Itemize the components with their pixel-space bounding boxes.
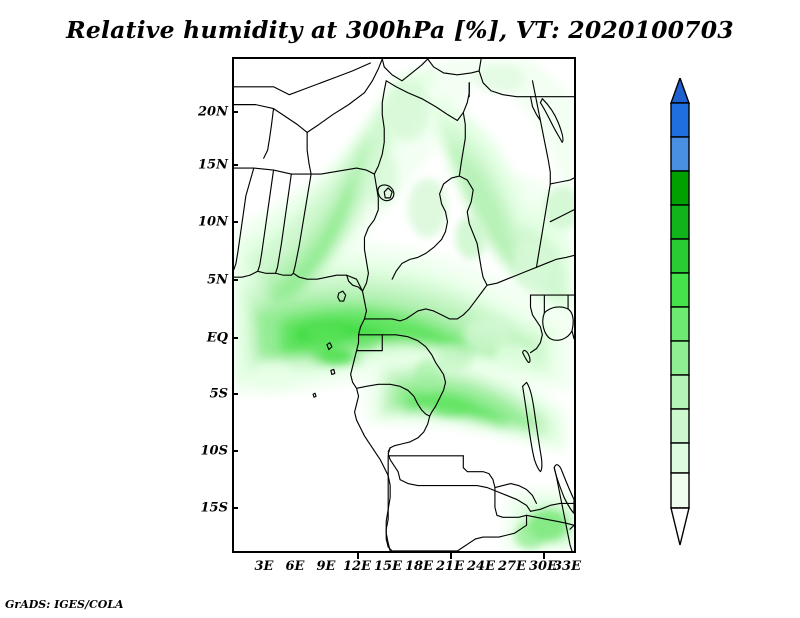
x-axis-tick-label: 27E [498,559,526,574]
x-axis-tick-label: 12E [343,559,371,574]
y-axis-tick-label: 5N [192,273,228,288]
x-axis-tick [450,553,452,559]
x-axis-tick-label: 6E [286,559,305,574]
y-axis-tick-label: 20N [192,105,228,120]
x-axis-tick-label: 15E [374,559,402,574]
x-axis-tick-label: 21E [436,559,464,574]
y-axis-tick [232,393,238,395]
y-axis-tick [232,450,238,452]
x-axis-tick [543,553,545,559]
y-axis-tick-label: 10N [192,215,228,230]
chart-root: Relative humidity at 300hPa [%], VT: 202… [0,0,800,618]
colorbar-arrow-bottom [671,508,689,545]
y-axis-tick-label: 5S [192,387,228,402]
y-axis-tick-label: EQ [192,331,228,346]
x-axis-tick-label: 9E [317,559,336,574]
credit-text: GrADS: IGES/COLA [5,598,124,611]
colorbar-swatches [670,78,690,546]
y-axis-tick-label: 15N [192,158,228,173]
y-axis-tick [232,164,238,166]
map-plot-area [232,57,576,553]
page-title: Relative humidity at 300hPa [%], VT: 202… [0,16,800,44]
y-axis-tick [232,507,238,509]
colorbar-arrow-top [671,78,689,103]
x-axis-tick-label: 24E [467,559,495,574]
colorbar: 99 97 95 92 90 85 80 75 70 60 50 40 [670,78,690,546]
y-axis-tick-label: 15S [192,501,228,516]
x-axis-tick-label: 3E [255,559,274,574]
y-axis-tick [232,337,238,339]
x-axis-tick [357,553,359,559]
country-borders-layer [234,59,574,551]
y-axis-tick [232,279,238,281]
x-axis-tick-label: 33E [553,559,581,574]
y-axis-tick [232,111,238,113]
y-axis-tick-label: 10S [192,444,228,459]
y-axis-tick [232,221,238,223]
x-axis-tick-label: 18E [405,559,433,574]
